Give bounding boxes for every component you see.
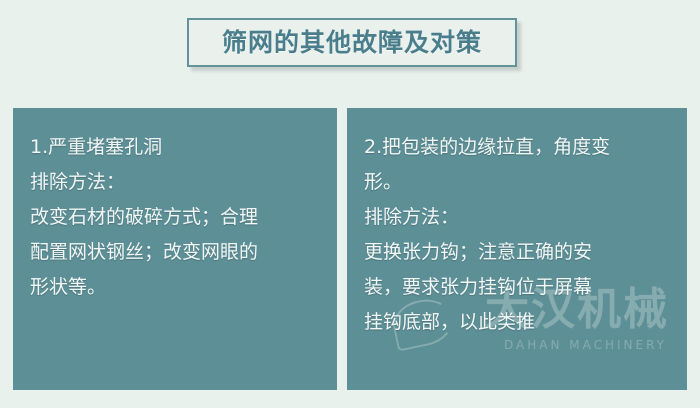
slide-canvas: 筛网的其他故障及对策 1.严重堵塞孔洞 排除方法： 改变石材的破碎方式；合理 配…: [0, 0, 700, 408]
slide-title-container: 筛网的其他故障及对策: [187, 18, 517, 67]
panel-1-line-3: 改变石材的破碎方式；合理: [30, 200, 321, 235]
panel-2-line-6: 挂钩底部，以此类推: [364, 305, 671, 340]
content-panel-2: 2.把包装的边缘拉直，角度变 形。 排除方法： 更换张力钩；注意正确的安 装，要…: [347, 108, 687, 390]
panel-2-line-2: 形。: [364, 165, 671, 200]
panel-2-line-5: 装，要求张力挂钩位于屏幕: [364, 270, 671, 305]
slide-title-box: 筛网的其他故障及对策: [187, 18, 517, 67]
watermark-english-text: DAHAN MACHINERY: [504, 338, 667, 352]
content-panel-1: 1.严重堵塞孔洞 排除方法： 改变石材的破碎方式；合理 配置网状钢丝；改变网眼的…: [13, 108, 337, 390]
panel-1-line-5: 形状等。: [30, 270, 321, 305]
page-title: 筛网的其他故障及对策: [222, 30, 482, 55]
panel-2-line-4: 更换张力钩；注意正确的安: [364, 235, 671, 270]
panel-2-line-1: 2.把包装的边缘拉直，角度变: [364, 130, 671, 165]
panel-2-line-3: 排除方法：: [364, 200, 671, 235]
panel-1-line-4: 配置网状钢丝；改变网眼的: [30, 235, 321, 270]
panel-1-line-1: 1.严重堵塞孔洞: [30, 130, 321, 165]
panel-1-line-2: 排除方法：: [30, 165, 321, 200]
